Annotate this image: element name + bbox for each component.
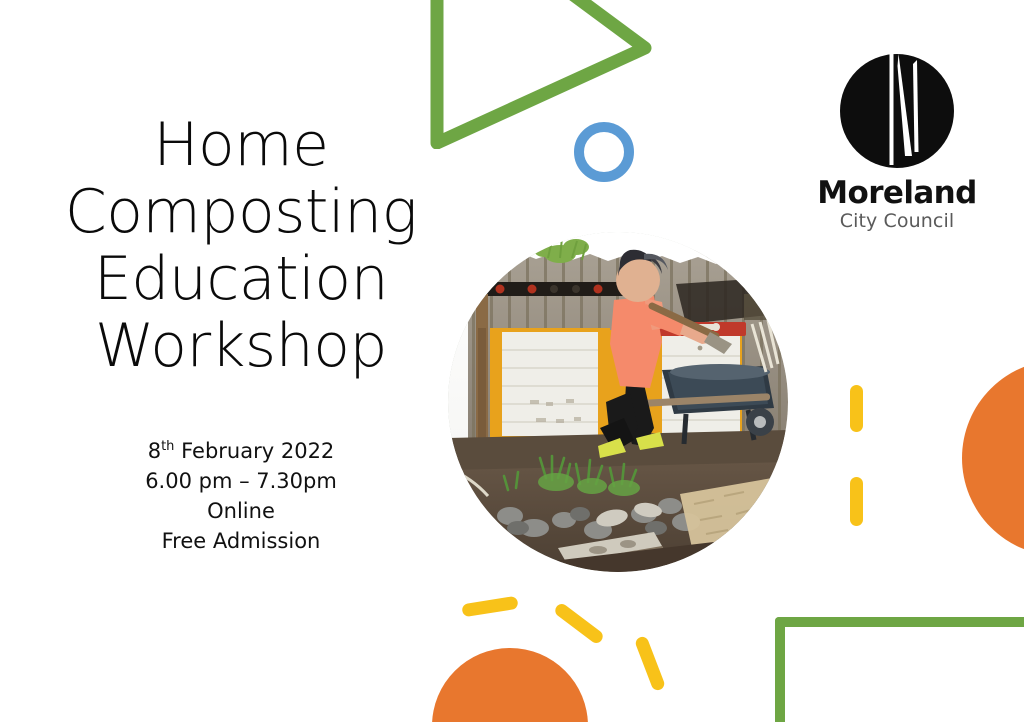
- event-time: 6.00 pm – 7.30pm: [36, 466, 446, 496]
- green-triangle-outline-icon: [420, 0, 660, 149]
- yellow-dash-ray-middle-icon: [553, 601, 606, 645]
- title-line-3: Education: [36, 246, 446, 313]
- yellow-dash-ray-left-icon: [461, 596, 518, 618]
- orange-circle-right-icon: [962, 360, 1024, 556]
- event-date: 8th February 2022: [36, 436, 446, 466]
- blue-ring-icon: [574, 122, 634, 182]
- yellow-dash-ray-right-icon: [634, 635, 666, 692]
- yellow-dash-vertical-top-icon: [850, 385, 863, 432]
- title-line-4: Workshop: [36, 313, 446, 380]
- composting-photo: [448, 232, 788, 572]
- moreland-m-roundel-icon: [838, 52, 956, 170]
- event-date-day: 8: [148, 439, 161, 463]
- moreland-city-council-logo: Moreland City Council: [812, 52, 982, 232]
- yellow-dash-vertical-bottom-icon: [850, 477, 863, 526]
- logo-wordmark: Moreland: [812, 176, 982, 210]
- poster-canvas: Home Composting Education Workshop 8th F…: [0, 0, 1024, 722]
- event-admission: Free Admission: [36, 526, 446, 556]
- orange-circle-bottom-icon: [432, 648, 588, 722]
- event-date-month-year: February 2022: [174, 439, 334, 463]
- event-location: Online: [36, 496, 446, 526]
- title-line-1: Home: [36, 112, 446, 179]
- page-title: Home Composting Education Workshop: [36, 112, 446, 380]
- title-line-2: Composting: [36, 179, 446, 246]
- green-rectangle-corner-icon: [775, 617, 1024, 722]
- event-details: 8th February 2022 6.00 pm – 7.30pm Onlin…: [36, 436, 446, 556]
- logo-sub-wordmark: City Council: [812, 210, 982, 232]
- event-date-ordinal: th: [161, 439, 174, 454]
